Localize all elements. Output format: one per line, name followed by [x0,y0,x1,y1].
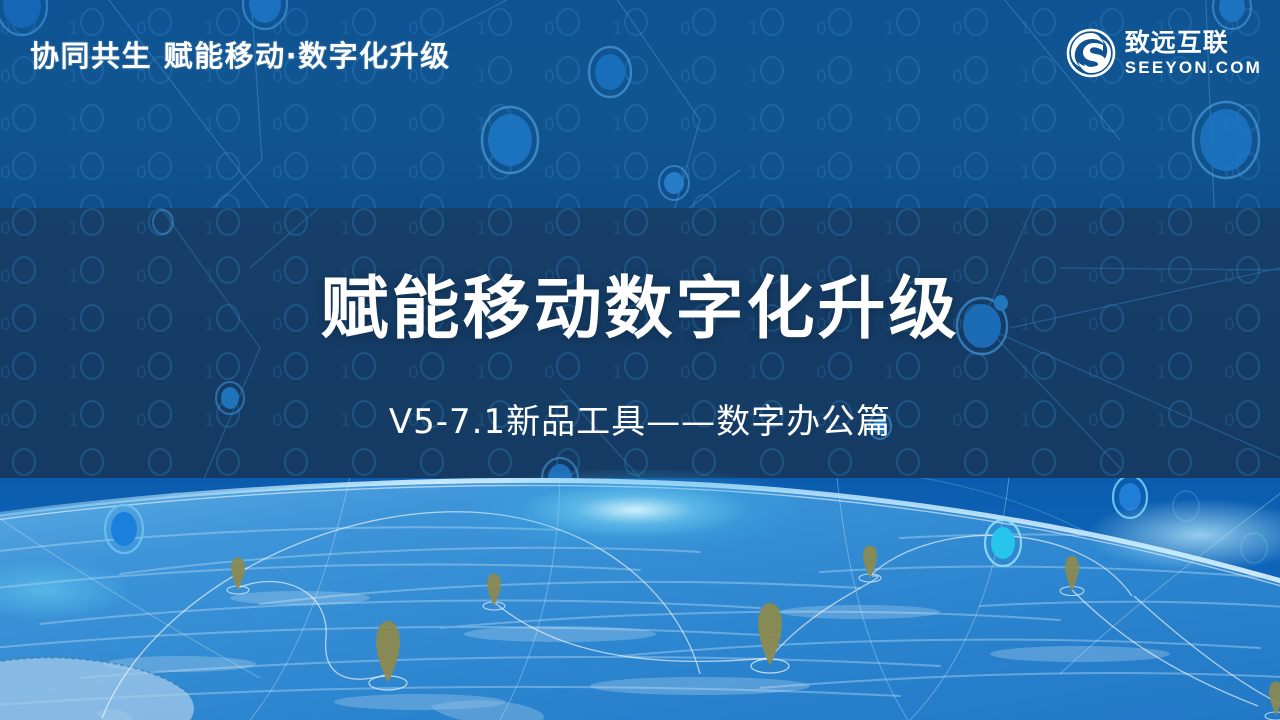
title-block: 赋能移动数字化升级 V5-7.1新品工具——数字办公篇 [0,208,1280,478]
page-title: 赋能移动数字化升级 [320,253,959,352]
header-slogan: 协同共生 赋能移动·数字化升级 [30,33,451,75]
seeyon-swirl-logo-icon [1066,28,1116,78]
presentation-slide: 01 01 01 01 01 01 01 01 01 0 [0,0,1280,720]
earth-globe-illustration [0,478,1280,720]
brand-name-cn: 致远互联 [1125,30,1262,55]
brand-logo: 致远互联 SEEYON.COM [1066,28,1262,78]
brand-logo-text: 致远互联 SEEYON.COM [1125,30,1262,76]
slide-header: 协同共生 赋能移动·数字化升级 致远互联 SEEYON.COM [0,0,1280,100]
page-subtitle: V5-7.1新品工具——数字办公篇 [389,394,891,443]
brand-name-en: SEEYON.COM [1125,59,1262,76]
